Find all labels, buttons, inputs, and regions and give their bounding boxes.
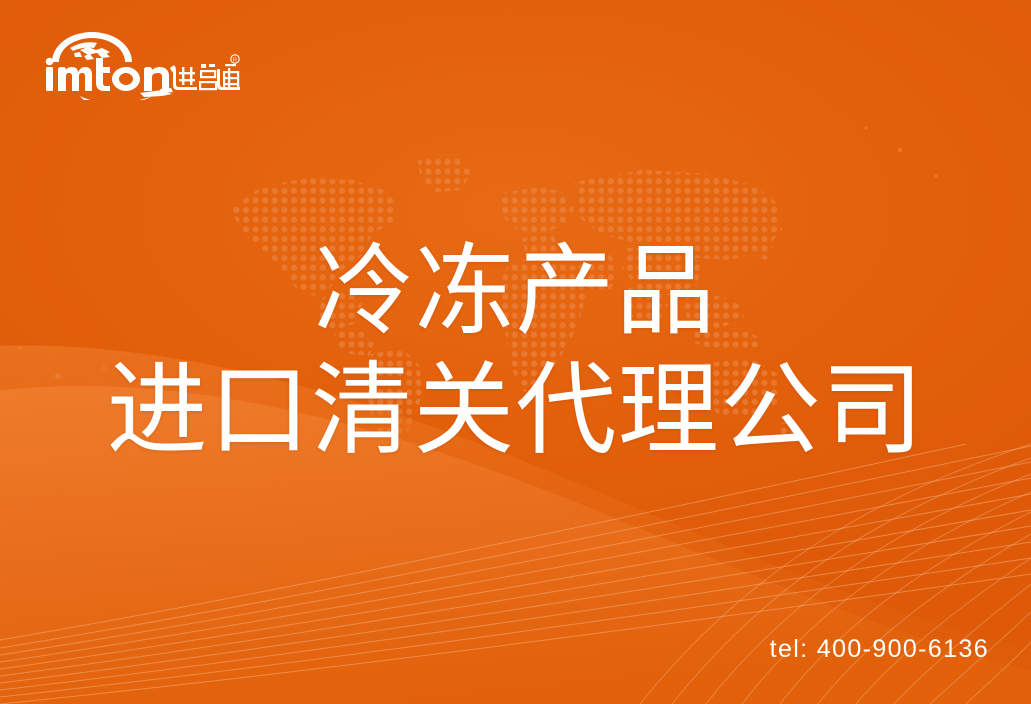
telephone-text: tel: 400-900-6136 [770,635,989,664]
headline: 冷冻产品 进口清关代理公司 [0,234,1031,470]
logo-wordmark [46,58,169,91]
logo-chinese-name [170,64,240,90]
promotional-banner: R 冷冻产品 进口清关代理公司 tel: 400-900-6136 [0,0,1031,704]
globe-arc-icon [52,32,132,62]
headline-line-1: 冷冻产品 [0,234,1031,349]
headline-line-2: 进口清关代理公司 [0,353,1031,470]
company-logo[interactable]: R [40,26,240,100]
trademark-letter: R [233,58,237,64]
